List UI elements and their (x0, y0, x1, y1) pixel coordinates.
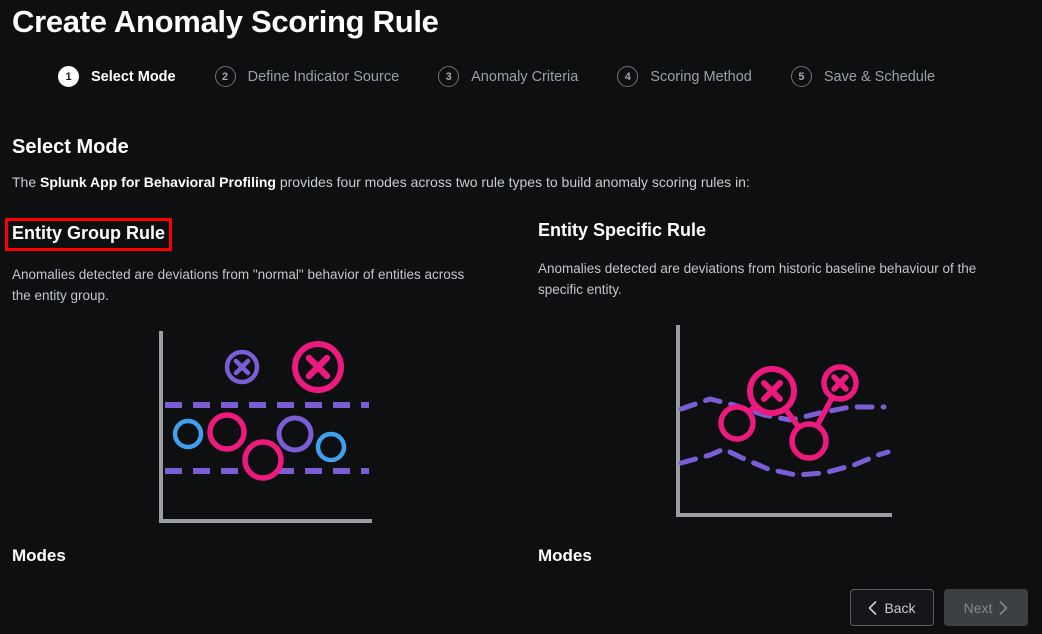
stepper-step-3-number: 3 (438, 66, 459, 87)
page-title: Create Anomaly Scoring Rule (12, 4, 439, 40)
section-description: The Splunk App for Behavioral Profiling … (12, 174, 750, 190)
anomaly-rule-wizard-page: Create Anomaly Scoring Rule 1 Select Mod… (0, 0, 1042, 634)
entity-dot-pink-2 (245, 442, 281, 478)
series-point-normal-2 (792, 424, 826, 458)
stepper-step-1-number: 1 (58, 66, 79, 87)
stepper-step-2[interactable]: 2 Define Indicator Source (215, 66, 400, 87)
entity-group-rule-title: Entity Group Rule (5, 218, 172, 251)
section-title: Select Mode (12, 136, 129, 159)
section-description-prefix: The (12, 174, 40, 190)
entity-dot-purple-1 (279, 418, 311, 450)
entity-specific-rule-description: Anomalies detected are deviations from h… (538, 259, 1008, 301)
back-button-label: Back (884, 600, 915, 616)
entity-specific-rule-title: Entity Specific Rule (534, 218, 710, 245)
next-button-label: Next (964, 600, 993, 616)
anomaly-marker-small (824, 367, 856, 399)
wizard-footer: Back Next (850, 589, 1028, 626)
entity-group-rule-modes-label: Modes (12, 546, 66, 566)
entity-dot-pink-1 (210, 415, 244, 449)
stepper-step-2-label: Define Indicator Source (248, 69, 400, 85)
chevron-right-icon (999, 601, 1008, 615)
lower-baseline-band (681, 449, 888, 475)
next-button[interactable]: Next (944, 589, 1028, 626)
entity-specific-rule-diagram (672, 323, 912, 528)
anomaly-marker-pink (295, 344, 341, 390)
stepper-step-2-number: 2 (215, 66, 236, 87)
stepper-step-5-number: 5 (791, 66, 812, 87)
entity-dot-blue-2 (318, 434, 344, 460)
stepper-step-1-label: Select Mode (91, 69, 176, 85)
stepper-step-5-label: Save & Schedule (824, 69, 935, 85)
anomaly-marker-purple (227, 352, 257, 382)
stepper-step-4[interactable]: 4 Scoring Method (617, 66, 752, 87)
stepper-step-5[interactable]: 5 Save & Schedule (791, 66, 935, 87)
series-point-normal-1 (721, 407, 753, 439)
entity-dot-blue-1 (175, 421, 201, 447)
entity-specific-rule-modes-label: Modes (538, 546, 592, 566)
stepper-step-4-label: Scoring Method (650, 69, 752, 85)
chevron-left-icon (868, 601, 877, 615)
wizard-stepper: 1 Select Mode 2 Define Indicator Source … (58, 66, 974, 87)
entity-group-rule-diagram (155, 329, 395, 534)
stepper-step-1[interactable]: 1 Select Mode (58, 66, 176, 87)
card-entity-specific-rule[interactable]: Entity Specific Rule Anomalies detected … (538, 218, 1038, 533)
stepper-step-4-number: 4 (617, 66, 638, 87)
stepper-step-3[interactable]: 3 Anomaly Criteria (438, 66, 578, 87)
section-description-app-name: Splunk App for Behavioral Profiling (40, 174, 276, 190)
stepper-step-3-label: Anomaly Criteria (471, 69, 578, 85)
card-entity-group-rule[interactable]: Entity Group Rule Anomalies detected are… (12, 218, 512, 539)
section-description-suffix: provides four modes across two rule type… (276, 174, 750, 190)
entity-group-rule-description: Anomalies detected are deviations from "… (12, 265, 482, 307)
anomaly-marker-large (750, 369, 794, 413)
back-button[interactable]: Back (850, 589, 934, 626)
